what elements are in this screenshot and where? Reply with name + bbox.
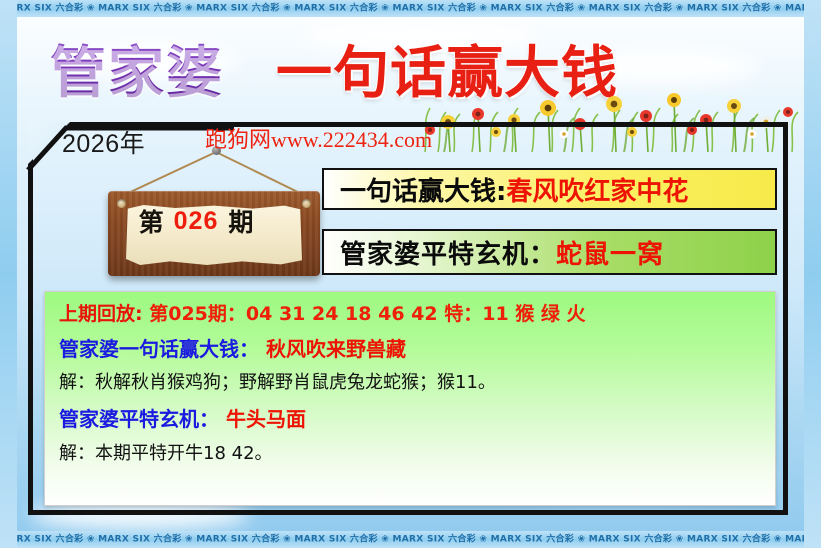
brand-title: 管家婆 xyxy=(50,28,224,109)
issue-hanging-sign: 第 026 期 xyxy=(100,146,330,276)
question2-line: 管家婆平特玄机： 牛头马面 xyxy=(59,406,761,432)
banner-pingte-value: 蛇鼠一窝 xyxy=(556,234,664,271)
question1-value: 秋风吹来野兽藏 xyxy=(266,337,406,361)
issue-number: 026 xyxy=(174,207,219,236)
banner-pingte-key: 管家婆平特玄机： xyxy=(340,234,556,271)
border-pattern-right: MARX SIX 六合彩 ❀ MARX SIX 六合彩 ❀ MARX SIX 六… xyxy=(804,0,821,548)
content-box: 上期回放: 第025期：04 31 24 18 46 42 特：11 猴 绿 火… xyxy=(44,291,776,506)
answer2-line: 解：本期平特开牛18 42。 xyxy=(59,442,761,466)
question1-label: 管家婆一句话赢大钱： xyxy=(59,337,259,361)
banner-pingte: 管家婆平特玄机： 蛇鼠一窝 xyxy=(322,229,777,275)
sign-wooden-board: 第 026 期 xyxy=(108,191,320,276)
poster-canvas: MARX SIX 六合彩 ❀ MARX SIX 六合彩 ❀ MARX SIX 六… xyxy=(0,0,821,548)
question2-value: 牛头马面 xyxy=(226,407,306,431)
border-pattern-left: MARX SIX 六合彩 ❀ MARX SIX 六合彩 ❀ MARX SIX 六… xyxy=(0,0,17,548)
issue-suffix: 期 xyxy=(228,203,253,239)
issue-prefix: 第 xyxy=(139,203,164,239)
recap-line: 上期回放: 第025期：04 31 24 18 46 42 特：11 猴 绿 火 xyxy=(59,302,761,327)
recap-body: 第025期：04 31 24 18 46 42 特：11 猴 绿 火 xyxy=(149,303,585,325)
banner-yijuhua: 一句话赢大钱: 春风吹红家中花 xyxy=(322,168,777,210)
banner-yijuhua-value: 春风吹红家中花 xyxy=(506,171,688,208)
border-pattern-bottom: MARX SIX 六合彩 ❀ MARX SIX 六合彩 ❀ MARX SIX 六… xyxy=(0,531,821,548)
question1-line: 管家婆一句话赢大钱： 秋风吹来野兽藏 xyxy=(59,336,761,362)
site-url-text[interactable]: 跑狗网www.222434.com xyxy=(205,122,432,154)
sign-hole-right xyxy=(302,199,311,208)
banner-yijuhua-key: 一句话赢大钱: xyxy=(340,171,506,208)
border-pattern-text: MARX SIX 六合彩 ❀ MARX SIX 六合彩 ❀ MARX SIX 六… xyxy=(0,0,821,17)
question2-label: 管家婆平特玄机： xyxy=(59,407,219,431)
recap-label: 上期回放: xyxy=(59,303,143,325)
answer1-line: 解：秋解秋肖猴鸡狗；野解野肖鼠虎兔龙蛇猴；猴11。 xyxy=(59,371,761,395)
issue-number-text: 第 026 期 xyxy=(108,191,284,251)
border-pattern-text: MARX SIX 六合彩 ❀ MARX SIX 六合彩 ❀ MARX SIX 六… xyxy=(0,531,821,548)
border-pattern-top: MARX SIX 六合彩 ❀ MARX SIX 六合彩 ❀ MARX SIX 六… xyxy=(0,0,821,17)
